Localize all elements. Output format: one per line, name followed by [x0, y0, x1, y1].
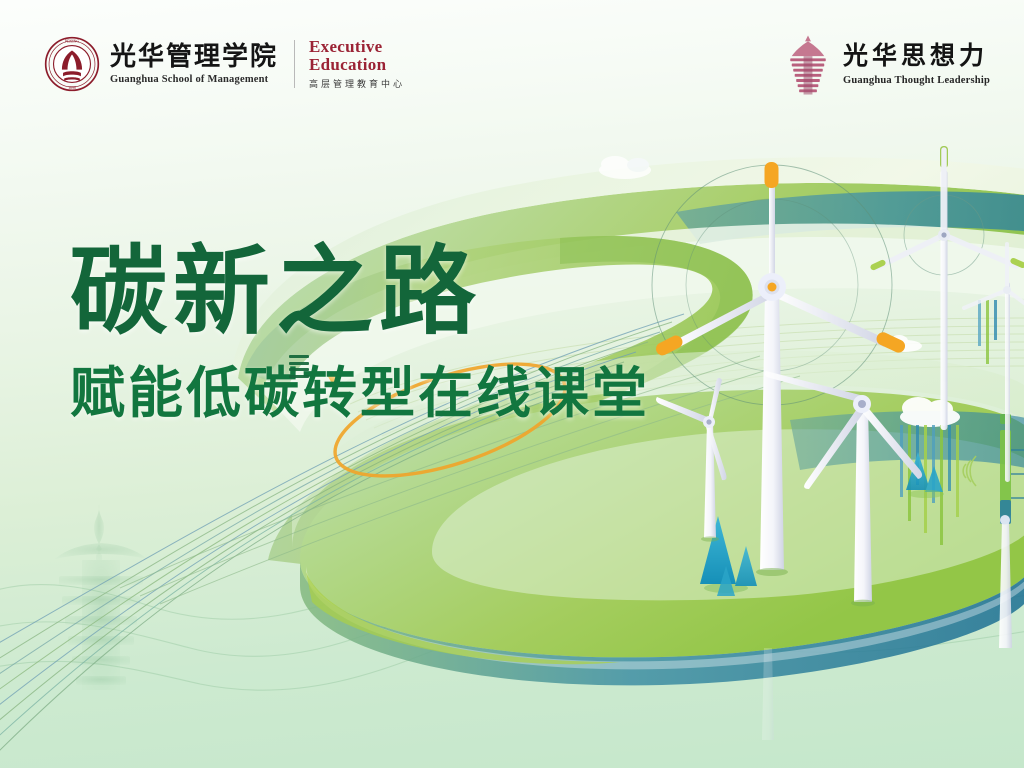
poster-canvas: PEKING 1898 光华管理学院 Guanghua School of Ma…: [0, 0, 1024, 768]
wind-turbine-small: [762, 648, 774, 740]
program-name-en-line2: Education: [309, 56, 405, 74]
rain-bars-upper: [978, 300, 997, 364]
brand-name-en: Guanghua Thought Leadership: [843, 75, 990, 86]
guanghua-school-logo: PEKING 1898 光华管理学院 Guanghua School of Ma…: [44, 36, 405, 92]
program-name-cn: 高层管理教育中心: [309, 77, 405, 90]
logo-bar: PEKING 1898 光华管理学院 Guanghua School of Ma…: [0, 0, 1024, 118]
page-subtitle: 赋能低碳转型在线课堂: [70, 366, 650, 421]
svg-text:PEKING: PEKING: [65, 40, 80, 44]
decorative-stacked-lines: [289, 355, 309, 381]
program-name-en-line1: Executive: [309, 38, 405, 56]
svg-text:1898: 1898: [68, 86, 76, 90]
logo-divider: [294, 40, 295, 88]
pagoda-icon: [785, 34, 831, 96]
school-name-en: Guanghua School of Management: [110, 74, 278, 85]
guanghua-thought-leadership-logo: 光华思想力 Guanghua Thought Leadership: [785, 34, 990, 96]
headline-block: 碳新之路 赋能低碳转型在线课堂: [70, 243, 650, 421]
school-name-cn: 光华管理学院: [110, 43, 278, 70]
brand-name-cn: 光华思想力: [843, 44, 990, 70]
peking-university-seal-icon: PEKING 1898: [44, 36, 100, 92]
page-title: 碳新之路: [70, 243, 650, 340]
cloud: [599, 156, 651, 179]
